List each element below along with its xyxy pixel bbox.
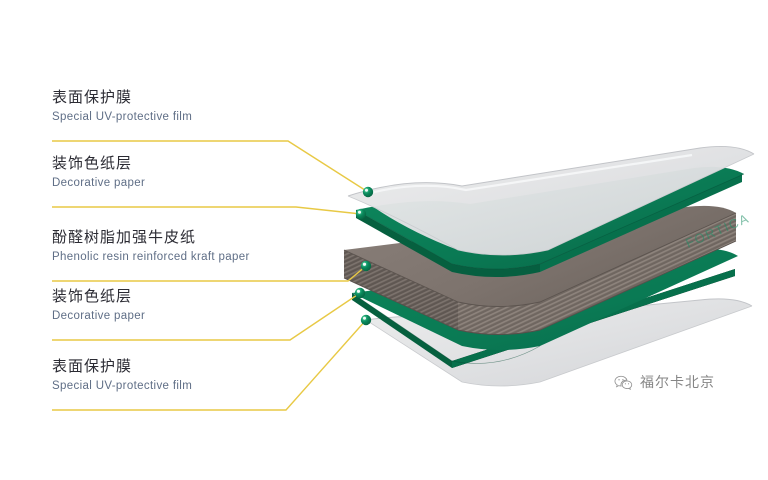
leader-line-1 — [52, 207, 361, 214]
watermark: 福尔卡北京 — [614, 372, 715, 392]
layer-label-cn: 装饰色纸层 — [52, 155, 145, 173]
layer-label-cn: 装饰色纸层 — [52, 288, 145, 306]
layer-label-en: Decorative paper — [52, 176, 145, 191]
dot-marker-0 — [363, 187, 373, 197]
layer-label-bottom-decorative-paper: 装饰色纸层 Decorative paper — [52, 288, 145, 324]
dot-marker-4 — [361, 315, 371, 325]
layer-label-en: Phenolic resin reinforced kraft paper — [52, 250, 250, 265]
layer-label-top-uv-film: 表面保护膜 Special UV-protective film — [52, 89, 192, 125]
layer-label-bottom-uv-film: 表面保护膜 Special UV-protective film — [52, 358, 192, 394]
layer-label-cn: 酚醛树脂加强牛皮纸 — [52, 229, 250, 247]
layer-label-en: Decorative paper — [52, 309, 145, 324]
diagram-canvas: FORTICA — [0, 0, 768, 480]
dot-marker-1 — [356, 209, 366, 219]
layer-label-cn: 表面保护膜 — [52, 89, 192, 107]
layer-label-top-decorative-paper: 装饰色纸层 Decorative paper — [52, 155, 145, 191]
watermark-text: 福尔卡北京 — [640, 372, 715, 392]
dot-marker-2 — [361, 261, 371, 271]
layer-label-en: Special UV-protective film — [52, 110, 192, 125]
layer-label-kraft-core: 酚醛树脂加强牛皮纸 Phenolic resin reinforced kraf… — [52, 229, 250, 265]
leader-line-2 — [52, 266, 366, 281]
layer-label-en: Special UV-protective film — [52, 379, 192, 394]
dot-marker-3 — [355, 288, 365, 298]
wechat-icon — [614, 375, 633, 390]
layer-label-cn: 表面保护膜 — [52, 358, 192, 376]
